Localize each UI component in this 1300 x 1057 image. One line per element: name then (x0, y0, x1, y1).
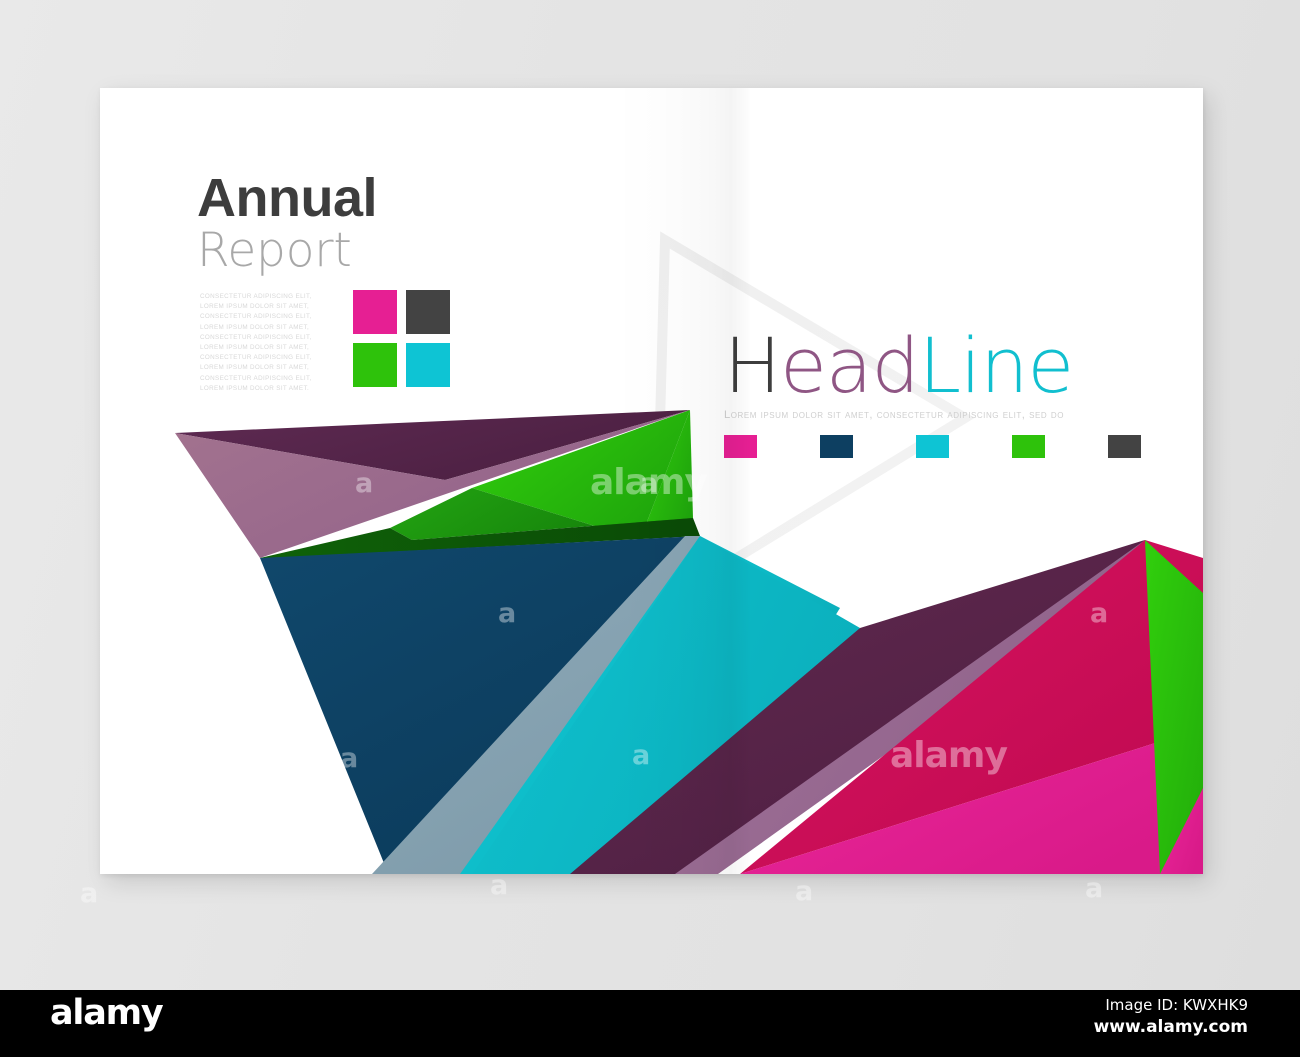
headline-part-line: Line (919, 321, 1073, 410)
headline: HeadLine (724, 328, 1141, 404)
headline-part-h: H (724, 321, 780, 410)
lorem-text-block: CONSECTETUR ADIPISCING ELIT, LOREM IPSUM… (200, 290, 345, 394)
title-report: Report (197, 226, 377, 275)
lorem-line: CONSECTETUR ADIPISCING ELIT, (200, 312, 345, 322)
swatch-magenta (353, 290, 397, 334)
swatch-green (353, 343, 397, 387)
lorem-line: LOREM IPSUM DOLOR SIT AMET. (200, 384, 345, 394)
swatch-dark-gray (1108, 435, 1141, 458)
left-page-lower-block: CONSECTETUR ADIPISCING ELIT, LOREM IPSUM… (200, 290, 460, 394)
headline-part-ead: ead (780, 321, 919, 410)
lorem-line: CONSECTETUR ADIPISCING ELIT, (200, 374, 345, 384)
lorem-line: CONSECTETUR ADIPISCING ELIT, (200, 333, 345, 343)
lorem-line: LOREM IPSUM DOLOR SIT AMET, (200, 302, 345, 312)
lorem-line: LOREM IPSUM DOLOR SIT AMET, (200, 323, 345, 333)
swatch-magenta (724, 435, 757, 458)
right-page-headline-block: HeadLine Lorem ipsum dolor sit amet, con… (724, 328, 1141, 458)
stock-photo-frame: Annual Report CONSECTETUR ADIPISCING ELI… (0, 0, 1300, 1057)
stock-info-bar: alamy Image ID: KWXHK9 www.alamy.com (0, 990, 1300, 1057)
lorem-line: LOREM IPSUM DOLOR SIT AMET, (200, 343, 345, 353)
image-id-label: Image ID: KWXHK9 (1105, 996, 1248, 1014)
left-page-title-block: Annual Report (197, 173, 377, 276)
alamy-logo: alamy (50, 993, 163, 1033)
swatch-dark-gray (406, 290, 450, 334)
swatch-cyan (406, 343, 450, 387)
right-swatch-row (724, 435, 1141, 458)
left-swatch-grid (353, 290, 450, 387)
swatch-navy (820, 435, 853, 458)
brochure-spread: Annual Report CONSECTETUR ADIPISCING ELI… (100, 88, 1203, 874)
lorem-line: CONSECTETUR ADIPISCING ELIT, (200, 292, 345, 302)
swatch-cyan (916, 435, 949, 458)
headline-subtitle: Lorem ipsum dolor sit amet, consectetur … (724, 409, 1141, 421)
lorem-line: CONSECTETUR ADIPISCING ELIT, (200, 353, 345, 363)
alamy-url: www.alamy.com (1094, 1017, 1248, 1037)
lorem-line: LOREM IPSUM DOLOR SIT AMET, (200, 363, 345, 373)
swatch-green (1012, 435, 1045, 458)
title-annual: Annual (197, 173, 377, 224)
